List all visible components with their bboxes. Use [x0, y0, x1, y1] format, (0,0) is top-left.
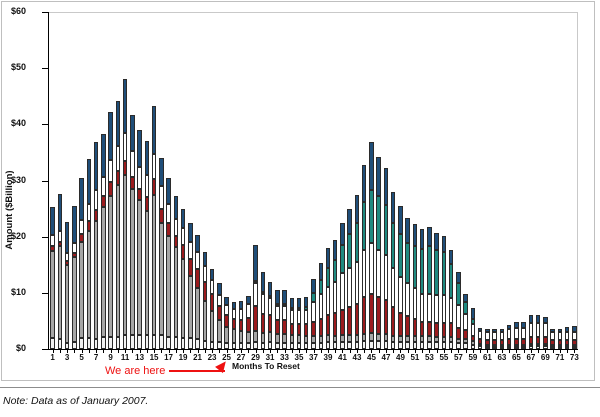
y-axis-tick: [42, 181, 48, 182]
bar-segment: [362, 202, 366, 250]
bar-segment: [174, 236, 178, 247]
bar-segment: [65, 253, 69, 261]
bar-column[interactable]: [174, 196, 178, 349]
bar-segment: [145, 141, 149, 175]
bar-segment: [152, 195, 156, 335]
y-axis-tick-label: $0: [16, 344, 26, 353]
bar-segment: [369, 294, 373, 333]
bar-segment: [391, 268, 395, 307]
bar-segment: [319, 263, 323, 280]
bar-segment: [326, 287, 330, 315]
bar-segment: [463, 330, 467, 338]
bar-segment: [565, 332, 569, 340]
bar-segment: [181, 209, 185, 229]
bar-segment: [463, 302, 467, 313]
bar-segment: [340, 223, 344, 245]
bar-segment: [137, 130, 141, 167]
bar-segment: [326, 342, 330, 349]
x-axis-tick-label: 65: [512, 353, 521, 363]
bar-segment: [137, 167, 141, 189]
bar-segment: [521, 328, 525, 339]
x-axis-tick-label: 15: [150, 353, 159, 363]
bar-segment: [79, 178, 83, 220]
bar-segment: [319, 319, 323, 336]
bar-segment: [333, 336, 337, 343]
bar-column[interactable]: [203, 252, 207, 349]
bar-column[interactable]: [550, 329, 554, 350]
bar-segment: [319, 294, 323, 319]
bar-column[interactable]: [166, 178, 170, 349]
x-axis-tick-label: 5: [79, 353, 83, 363]
bar-column[interactable]: [355, 195, 359, 349]
bar-segment: [246, 304, 250, 318]
bar-column[interactable]: [311, 279, 315, 349]
bar-column[interactable]: [217, 283, 221, 349]
bar-segment: [369, 333, 373, 340]
bar-segment: [405, 218, 409, 243]
bar-segment: [174, 219, 178, 236]
bar-column[interactable]: [116, 101, 120, 349]
x-axis-tick-label: 3: [65, 353, 69, 363]
bar-segment: [347, 342, 351, 349]
bar-column[interactable]: [246, 296, 250, 349]
bar-segment: [108, 182, 112, 196]
bar-segment: [94, 210, 98, 221]
bar-segment: [442, 252, 446, 294]
bar-segment: [514, 328, 518, 339]
bar-segment: [50, 207, 54, 235]
bar-column[interactable]: [391, 192, 395, 349]
bar-column[interactable]: [101, 134, 105, 349]
bar-segment: [362, 165, 366, 202]
chart-container: ARM Reset Schedule Alt-A ARM Subprime AR…: [0, 0, 600, 385]
bar-segment: [72, 206, 76, 243]
bar-segment: [442, 323, 446, 337]
bar-column[interactable]: [123, 79, 127, 349]
bar-column[interactable]: [72, 206, 76, 349]
bar-segment: [471, 324, 475, 335]
bar-column[interactable]: [58, 194, 62, 349]
bar-segment: [340, 342, 344, 349]
bar-column[interactable]: [347, 209, 351, 349]
bar-segment: [188, 259, 192, 276]
bar-segment: [304, 297, 308, 307]
footer-note: Note: Data as of January 2007.: [3, 395, 148, 407]
bar-segment: [239, 301, 243, 308]
bar-segment: [94, 190, 98, 210]
bar-column[interactable]: [326, 248, 330, 349]
x-axis-title: Months To Reset: [232, 361, 300, 371]
bar-segment: [355, 335, 359, 342]
bar-segment: [224, 305, 228, 315]
bar-column[interactable]: [137, 130, 141, 349]
bar-segment: [536, 337, 540, 344]
bar-segment: [108, 112, 112, 160]
bar-segment: [268, 332, 272, 342]
bar-column[interactable]: [340, 223, 344, 349]
bar-segment: [116, 146, 120, 171]
bar-segment: [58, 246, 62, 339]
x-axis-tick-label: 23: [208, 353, 217, 363]
bar-segment: [376, 334, 380, 341]
bar-segment: [391, 192, 395, 223]
bar-segment: [195, 252, 199, 269]
bar-segment: [203, 266, 207, 282]
bar-segment: [290, 310, 294, 324]
bar-segment: [217, 320, 221, 342]
bar-segment: [543, 317, 547, 324]
bar-segment: [427, 227, 431, 247]
x-axis-labels: 1357911131517192123252729313335373941434…: [49, 353, 578, 365]
bar-segment: [101, 196, 105, 207]
bar-segment: [159, 223, 163, 335]
bar-column[interactable]: [572, 326, 576, 349]
bar-segment: [152, 106, 156, 154]
bar-segment: [123, 79, 127, 132]
x-axis-tick-label: 69: [541, 353, 550, 363]
bar-segment: [94, 339, 98, 349]
bar-segment: [166, 178, 170, 203]
bar-column[interactable]: [50, 207, 54, 349]
bar-segment: [145, 175, 149, 197]
bar-segment: [108, 337, 112, 349]
x-axis-tick-label: 21: [193, 353, 202, 363]
bar-segment: [130, 115, 134, 152]
plot-area: $0$10$20$30$40$50$60: [48, 12, 578, 350]
bar-segment: [246, 318, 250, 332]
bar-segment: [282, 290, 286, 304]
bar-column[interactable]: [65, 222, 69, 349]
bar-column[interactable]: [471, 308, 475, 350]
bar-segment: [304, 324, 308, 335]
bar-column[interactable]: [536, 315, 540, 349]
bar-segment: [304, 310, 308, 324]
x-axis-tick-label: 19: [179, 353, 188, 363]
bar-column[interactable]: [500, 329, 504, 350]
bar-segment: [210, 280, 214, 294]
bar-segment: [420, 229, 424, 249]
bar-segment: [413, 224, 417, 246]
bar-column[interactable]: [268, 282, 272, 349]
bar-segment: [87, 204, 91, 221]
x-axis-tick-label: 47: [382, 353, 391, 363]
bar-column[interactable]: [529, 315, 533, 349]
bar-segment: [159, 158, 163, 186]
bar-segment: [391, 223, 395, 268]
bar-column[interactable]: [463, 294, 467, 349]
bar-segment: [224, 327, 228, 344]
y-axis-tick-label: $10: [11, 288, 26, 297]
bar-segment: [449, 323, 453, 337]
bar-segment: [87, 338, 91, 349]
bar-column[interactable]: [333, 240, 337, 349]
bar-segment: [116, 337, 120, 349]
bar-segment: [558, 332, 562, 340]
bar-segment: [434, 323, 438, 337]
bar-segment: [427, 294, 431, 322]
bar-segment: [420, 294, 424, 322]
x-axis-tick-label: 49: [396, 353, 405, 363]
bar-segment: [333, 282, 337, 313]
bar-column[interactable]: [376, 157, 380, 349]
bar-segment: [224, 297, 228, 305]
bar-segment: [261, 272, 265, 292]
x-axis-tick-label: 39: [324, 353, 333, 363]
bar-segment: [159, 335, 163, 349]
bar-segment: [239, 320, 243, 331]
bar-column[interactable]: [521, 322, 525, 349]
bar-segment: [536, 323, 540, 337]
bar-column[interactable]: [275, 290, 279, 349]
bar-column[interactable]: [442, 236, 446, 349]
bar-segment: [362, 250, 366, 298]
bar-segment: [442, 236, 446, 253]
bar-segment: [232, 302, 236, 309]
bar-segment: [239, 331, 243, 343]
bar-column[interactable]: [304, 297, 308, 349]
bar-column[interactable]: [565, 327, 569, 349]
bar-segment: [210, 311, 214, 342]
bar-segment: [449, 298, 453, 323]
bar-segment: [253, 283, 257, 305]
bar-segment: [434, 250, 438, 295]
bar-segment: [572, 332, 576, 340]
bar-column[interactable]: [492, 329, 496, 350]
bar-column[interactable]: [290, 298, 294, 349]
bar-segment: [130, 189, 134, 335]
x-axis-tick-label: 53: [425, 353, 434, 363]
bar-segment: [116, 185, 120, 337]
x-axis-tick-label: 9: [108, 353, 112, 363]
bar-segment: [181, 228, 185, 245]
bar-column[interactable]: [188, 223, 192, 349]
bar-segment: [333, 240, 337, 260]
bar-segment: [550, 332, 554, 340]
bar-segment: [130, 177, 134, 189]
bar-column[interactable]: [152, 106, 156, 349]
bar-segment: [319, 336, 323, 343]
y-axis-tick-label: $40: [11, 119, 26, 128]
bar-segment: [384, 334, 388, 341]
bar-column[interactable]: [558, 329, 562, 350]
x-axis-tick-label: 61: [483, 353, 492, 363]
bar-segment: [58, 231, 62, 242]
bar-segment: [326, 268, 330, 288]
bar-column[interactable]: [79, 178, 83, 349]
bar-segment: [427, 322, 431, 336]
bar-segment: [232, 309, 236, 319]
bar-segment: [355, 262, 359, 304]
bar-segment: [268, 282, 272, 296]
bar-segment: [137, 335, 141, 349]
bar-segment: [398, 277, 402, 314]
bar-column[interactable]: [362, 165, 366, 349]
annotation-label: We are here: [105, 365, 165, 377]
bar-segment: [203, 301, 207, 340]
bar-segment: [384, 255, 388, 300]
bar-segment: [391, 307, 395, 335]
bar-segment: [130, 335, 134, 349]
bar-segment: [413, 288, 417, 319]
bar-column[interactable]: [253, 245, 257, 349]
bar-segment: [50, 338, 54, 349]
bar-segment: [145, 197, 149, 211]
bar-segment: [485, 332, 489, 340]
bar-segment: [217, 283, 221, 294]
bar-segment: [65, 222, 69, 253]
bar-column[interactable]: [384, 168, 388, 349]
bar-segment: [195, 235, 199, 252]
bar-segment: [268, 315, 272, 332]
bar-column[interactable]: [145, 141, 149, 349]
bar-segment: [333, 260, 337, 282]
bar-segment: [290, 335, 294, 343]
x-axis-tick-label: 55: [439, 353, 448, 363]
bar-segment: [362, 341, 366, 349]
bar-segment: [536, 315, 540, 323]
bar-column[interactable]: [261, 272, 265, 349]
bar-column[interactable]: [232, 302, 236, 349]
y-axis-tick-label: $20: [11, 232, 26, 241]
bar-segment: [420, 249, 424, 294]
bar-segment: [456, 305, 460, 327]
bar-series-group: [49, 12, 578, 349]
bar-segment: [405, 342, 409, 349]
bar-column[interactable]: [413, 224, 417, 349]
bar-segment: [340, 335, 344, 342]
bar-segment: [355, 304, 359, 335]
bar-column[interactable]: [449, 250, 453, 349]
bar-segment: [166, 204, 170, 224]
bar-segment: [195, 288, 199, 339]
bar-segment: [333, 313, 337, 335]
bar-segment: [376, 250, 380, 298]
bar-segment: [253, 306, 257, 331]
x-axis-tick-label: 37: [309, 353, 318, 363]
x-axis-tick-label: 51: [410, 353, 419, 363]
bar-segment: [529, 337, 533, 344]
bar-segment: [181, 245, 185, 259]
bar-column[interactable]: [210, 269, 214, 349]
bar-segment: [347, 234, 351, 268]
bar-segment: [79, 338, 83, 349]
bar-segment: [282, 320, 286, 334]
bar-column[interactable]: [456, 272, 460, 349]
bar-segment: [456, 283, 460, 305]
bar-segment: [355, 195, 359, 223]
bar-segment: [101, 207, 105, 336]
bar-segment: [145, 211, 149, 335]
bar-segment: [326, 248, 330, 268]
bar-segment: [123, 175, 127, 335]
x-axis-tick-label: 13: [135, 353, 144, 363]
bar-column[interactable]: [297, 298, 301, 349]
bar-segment: [529, 315, 533, 323]
bar-segment: [87, 221, 91, 231]
bar-column[interactable]: [319, 263, 323, 349]
bar-segment: [253, 342, 257, 349]
bar-segment: [268, 298, 272, 315]
bar-column[interactable]: [543, 317, 547, 349]
bar-segment: [58, 339, 62, 349]
bar-column[interactable]: [434, 233, 438, 349]
y-axis-tick-label: $50: [11, 63, 26, 72]
bar-segment: [543, 337, 547, 344]
bar-column[interactable]: [87, 159, 91, 349]
bar-column[interactable]: [398, 206, 402, 349]
bar-segment: [275, 334, 279, 343]
bar-segment: [384, 205, 388, 256]
bar-segment: [398, 234, 402, 276]
bar-column[interactable]: [514, 322, 518, 349]
bar-segment: [311, 302, 315, 322]
bar-column[interactable]: [224, 297, 228, 349]
bar-segment: [87, 159, 91, 204]
bar-segment: [123, 335, 127, 349]
bar-segment: [492, 332, 496, 340]
bar-segment: [203, 341, 207, 349]
bar-segment: [50, 235, 54, 246]
bar-segment: [253, 331, 257, 342]
bar-column[interactable]: [181, 209, 185, 349]
bar-segment: [130, 151, 134, 176]
bar-column[interactable]: [94, 142, 98, 349]
bar-segment: [101, 337, 105, 349]
bar-segment: [174, 247, 178, 337]
bar-segment: [166, 223, 170, 235]
bar-segment: [203, 282, 207, 302]
x-axis-tick-label: 11: [121, 353, 129, 363]
bar-segment: [405, 283, 409, 317]
bar-segment: [181, 338, 185, 349]
x-axis-tick-label: 57: [454, 353, 463, 363]
bar-segment: [94, 221, 98, 339]
bar-column[interactable]: [130, 115, 134, 349]
bar-column[interactable]: [427, 227, 431, 349]
bar-segment: [152, 154, 156, 179]
bar-column[interactable]: [420, 229, 424, 349]
x-axis-tick-label: 45: [367, 353, 376, 363]
bar-segment: [188, 338, 192, 349]
bar-column[interactable]: [239, 301, 243, 349]
bar-column[interactable]: [478, 328, 482, 349]
bar-column[interactable]: [485, 329, 489, 350]
bar-column[interactable]: [108, 112, 112, 349]
y-axis-tick: [42, 124, 48, 125]
bar-segment: [232, 329, 236, 343]
bar-column[interactable]: [195, 235, 199, 349]
bar-column[interactable]: [159, 158, 163, 349]
bar-segment: [152, 335, 156, 349]
bar-segment: [297, 298, 301, 308]
bar-segment: [116, 171, 120, 185]
bar-segment: [355, 342, 359, 349]
bar-segment: [420, 322, 424, 336]
bar-column[interactable]: [405, 218, 409, 349]
bar-column[interactable]: [507, 325, 511, 349]
bar-segment: [239, 309, 243, 320]
bar-column[interactable]: [282, 290, 286, 349]
y-axis-tick: [42, 237, 48, 238]
bar-segment: [369, 243, 373, 294]
bar-column[interactable]: [369, 142, 373, 349]
x-axis-tick-label: 73: [570, 353, 579, 363]
y-axis-line: [48, 12, 49, 350]
bar-segment: [50, 251, 54, 338]
bar-segment: [413, 319, 417, 336]
bar-segment: [333, 342, 337, 349]
bar-segment: [507, 329, 511, 339]
